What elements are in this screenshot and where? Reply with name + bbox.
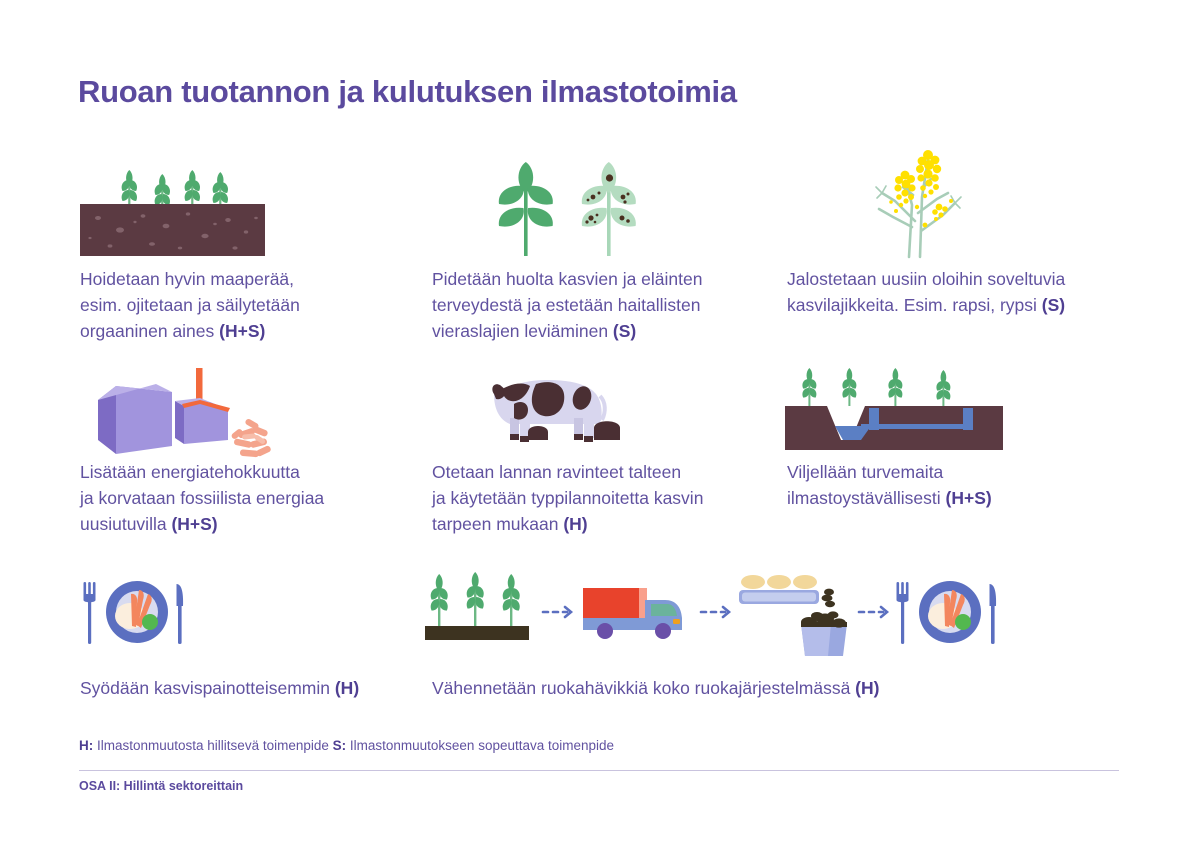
caption-line: kasvilajikkeita. Esim. rapsi, rypsi <box>787 295 1042 315</box>
farm-buildings-bioenergy-illustration <box>88 368 283 460</box>
caption-peatland-farming: Viljellään turvemaita ilmastoystävällise… <box>787 459 1137 511</box>
caption-line: Vähennetään ruokahävikkiä koko ruokajärj… <box>432 678 855 698</box>
caption-line: terveydestä ja estetään haitallisten <box>432 295 701 315</box>
caption-line: Viljellään turvemaita <box>787 462 943 482</box>
caption-soil-management: Hoidetaan hyvin maaperää, esim. ojitetaa… <box>80 266 410 344</box>
soil-field-illustration <box>80 158 270 258</box>
caption-crop-breeding: Jalostetaan uusiin oloihin soveltuvia ka… <box>787 266 1137 318</box>
page-title: Ruoan tuotannon ja kulutuksen ilmastotoi… <box>78 74 737 110</box>
caption-line: Syödään kasvispainotteisemmin <box>80 678 335 698</box>
caption-plant-based-eating: Syödään kasvispainotteisemmin (H) <box>80 675 359 701</box>
caption-line: ja korvataan fossiilista energiaa <box>80 488 324 508</box>
caption-manure-nutrients: Otetaan lannan ravinteet talteen ja käyt… <box>432 459 772 537</box>
measure-tag: (H) <box>855 678 879 698</box>
measure-tag: (S) <box>613 321 636 341</box>
food-waste-chain-illustration <box>425 568 955 660</box>
measure-tag: (H) <box>563 514 587 534</box>
caption-line: Jalostetaan uusiin oloihin soveltuvia <box>787 269 1065 289</box>
measure-tag: (S) <box>1042 295 1065 315</box>
caption-plant-animal-health: Pidetään huolta kasvien ja eläinten terv… <box>432 266 772 344</box>
legend-key-s: S: <box>333 738 347 753</box>
plant-based-plate-illustration <box>82 578 192 650</box>
caption-line: orgaaninen aines <box>80 321 219 341</box>
caption-line: Pidetään huolta kasvien ja eläinten <box>432 269 702 289</box>
flow-arrow-icon <box>701 607 729 617</box>
caption-line: esim. ojitetaan ja säilytetään <box>80 295 300 315</box>
rapeseed-plant-illustration <box>865 145 1000 257</box>
legend: H: Ilmastonmuutosta hillitsevä toimenpid… <box>79 738 614 753</box>
flow-arrow-icon <box>859 607 887 617</box>
healthy-and-diseased-plants-illustration <box>490 160 660 258</box>
caption-food-waste-reduction: Vähennetään ruokahävikkiä koko ruokajärj… <box>432 675 879 701</box>
footer-divider <box>79 770 1119 771</box>
footer-section-label: OSA II: Hillintä sektoreittain <box>79 779 243 793</box>
infographic-page: Ruoan tuotannon ja kulutuksen ilmastotoi… <box>0 0 1200 848</box>
caption-line: Otetaan lannan ravinteet talteen <box>432 462 681 482</box>
peatland-drainage-illustration <box>785 368 1020 456</box>
cow-manure-illustration <box>470 374 645 456</box>
measure-tag: (H+S) <box>171 514 217 534</box>
legend-key-h: H: <box>79 738 93 753</box>
caption-line: Lisätään energiatehokkuutta <box>80 462 300 482</box>
legend-text-s: Ilmastonmuutokseen sopeuttava toimenpide <box>346 738 614 753</box>
caption-line: ilmastoystävällisesti <box>787 488 946 508</box>
caption-line: vieraslajien leviäminen <box>432 321 613 341</box>
caption-line: Hoidetaan hyvin maaperää, <box>80 269 294 289</box>
flow-arrow-icon <box>543 607 571 617</box>
legend-text-h: Ilmastonmuutosta hillitsevä toimenpide <box>93 738 332 753</box>
measure-tag: (H) <box>335 678 359 698</box>
measure-tag: (H+S) <box>946 488 992 508</box>
caption-line: uusiutuvilla <box>80 514 171 534</box>
caption-energy-efficiency: Lisätään energiatehokkuutta ja korvataan… <box>80 459 410 537</box>
caption-line: tarpeen mukaan <box>432 514 563 534</box>
measure-tag: (H+S) <box>219 321 265 341</box>
caption-line: ja käytetään typpilannoitetta kasvin <box>432 488 703 508</box>
